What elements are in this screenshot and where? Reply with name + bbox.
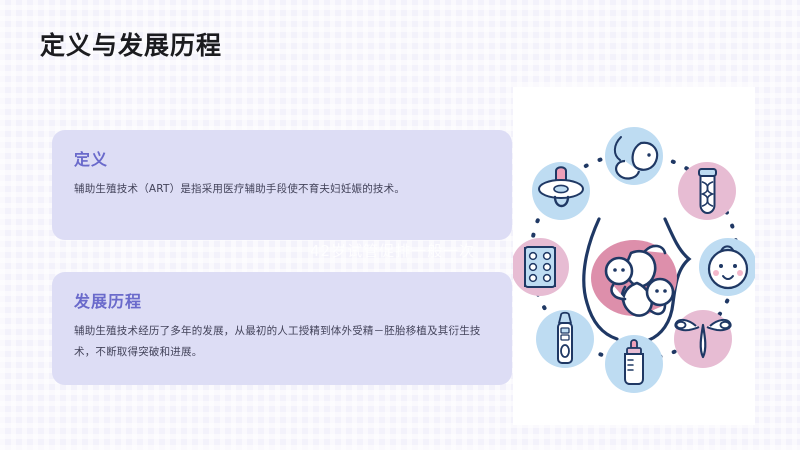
pacifier-icon (532, 162, 590, 220)
content-card-history: 发展历程 辅助生殖技术经历了多年的发展，从最初的人工授精到体外受精－胚胎移植及其… (52, 272, 512, 385)
pregnant-belly-with-twins (584, 219, 689, 340)
card-heading-definition: 定义 (74, 150, 490, 169)
content-card-definition: 定义 辅助生殖技术（ART）是指采用医疗辅助手段使不育夫妇妊娠的技术。 (52, 130, 512, 240)
fetus-icon (605, 127, 663, 185)
watermark-text: 42岁试管促排一般一次 (310, 240, 475, 261)
dna-test-tube-icon (678, 162, 736, 220)
baby-face-icon (699, 238, 755, 296)
card-body-definition: 辅助生殖技术（ART）是指采用医疗辅助手段使不育夫妇妊娠的技术。 (74, 179, 490, 199)
pill-blister-icon (513, 238, 569, 296)
uterus-icon (674, 310, 732, 368)
pregnancy-test-icon (536, 310, 594, 368)
slide-canvas: 定义与发展历程 42岁试管促排一般一次 定义 辅助生殖技术（ART）是指采用医疗… (0, 0, 800, 450)
card-heading-history: 发展历程 (74, 292, 490, 311)
art-cycle-illustration (513, 87, 755, 425)
baby-bottle-icon (605, 335, 663, 393)
page-title: 定义与发展历程 (40, 26, 222, 62)
illustration-panel (513, 87, 755, 425)
card-body-history: 辅助生殖技术经历了多年的发展，从最初的人工授精到体外受精－胚胎移植及其衍生技术，… (74, 321, 490, 362)
